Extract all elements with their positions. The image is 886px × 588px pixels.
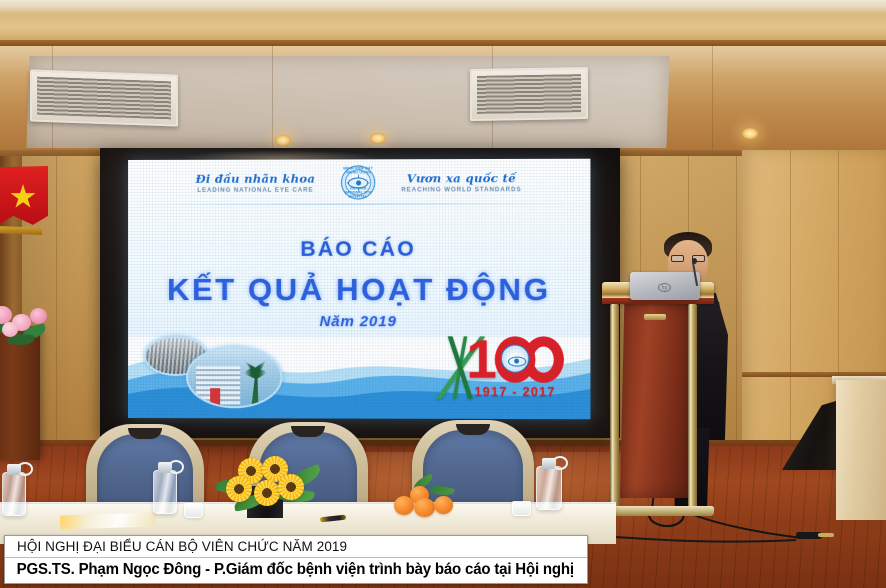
wall-panel-seam — [56, 156, 57, 442]
palm-tree — [242, 360, 268, 406]
presentation-slide: Đi đầu nhãn khoa LEADING NATIONAL EYE CA… — [128, 159, 590, 420]
tagline-left-sub: LEADING NATIONAL EYE CARE — [180, 187, 331, 194]
bottle-loop — [168, 460, 184, 474]
hospital-building-photo — [186, 346, 282, 408]
tagline-right: Vươn xa quốc tế REACHING WORLD STANDARDS — [385, 171, 537, 194]
anniversary-digit-zero-b — [523, 336, 564, 382]
podium-chrome-leg-right — [688, 304, 697, 510]
podium-body — [620, 304, 692, 498]
flower — [30, 308, 47, 324]
sunflower — [226, 476, 252, 502]
eye-hospital-logo-icon: BỆNH VIỆN MẮT TRUNG ƯƠNG VIETNAM NATIONA… — [341, 165, 375, 199]
anniversary-eye-icon — [501, 344, 529, 372]
podium-chrome-leg-left — [610, 304, 619, 510]
orange — [434, 496, 453, 514]
hospital-entrance — [210, 388, 220, 406]
tagline-right-script: Vươn xa quốc tế — [385, 171, 537, 185]
bottle-body — [153, 470, 177, 514]
side-lectern — [836, 380, 886, 520]
presenter-glasses-icon — [671, 255, 705, 262]
water-bottle — [536, 456, 562, 516]
slide-header: Đi đầu nhãn khoa LEADING NATIONAL EYE CA… — [128, 165, 590, 200]
air-conditioner-vent — [470, 67, 588, 121]
air-conditioner-vent — [30, 69, 178, 126]
anniversary-logo: 1 1917 - 2017 — [442, 328, 574, 409]
podium-nameplate — [644, 314, 666, 320]
drinking-glass — [512, 501, 531, 516]
anniversary-years: 1917 - 2017 — [454, 385, 576, 399]
vent-grill — [477, 74, 581, 114]
anniversary-digit-one: 1 — [466, 332, 496, 386]
bottle-body — [2, 472, 26, 516]
presenter-laptop[interactable]: hp — [626, 272, 702, 306]
ceiling-seam — [272, 46, 273, 150]
pink-flower-arrangement — [0, 300, 58, 346]
drinking-glass — [184, 503, 203, 518]
conference-chair — [86, 424, 204, 514]
sunflower-bouquet — [216, 456, 324, 516]
ceiling-downlight — [370, 133, 386, 144]
sunflower — [278, 474, 304, 500]
orange — [414, 498, 435, 517]
logo-arc-top-text: BỆNH VIỆN MẮT TRUNG ƯƠNG — [341, 166, 375, 174]
photo-caption-bar: HỘI NGHỊ ĐẠI BIỂU CÁN BỘ VIÊN CHỨC NĂM 2… — [4, 535, 588, 584]
caption-description: PGS.TS. Phạm Ngọc Đông - P.Giám đốc bệnh… — [5, 558, 570, 583]
logo-arc-bottom-text: VIETNAM NATIONAL EYE HOSPITAL — [341, 186, 375, 198]
sunflower — [254, 480, 280, 506]
side-cabinet — [0, 330, 40, 460]
caption-event-title: HỘI NGHỊ ĐẠI BIỂU CÁN BỘ VIÊN CHỨC NĂM 2… — [5, 536, 587, 558]
tagline-right-sub: REACHING WORLD STANDARDS — [385, 186, 537, 193]
tagline-left-script: Đi đầu nhãn khoa — [180, 171, 331, 185]
tagline-left: Đi đầu nhãn khoa LEADING NATIONAL EYE CA… — [180, 171, 331, 193]
ceiling-seam — [712, 46, 713, 150]
bottle-loop — [17, 462, 33, 476]
bottle-loop — [552, 456, 568, 470]
speaking-podium — [602, 282, 714, 530]
ceiling-downlight — [275, 135, 291, 146]
slide-title-main: KẾT QUẢ HOẠT ĐỘNG — [128, 272, 590, 308]
hp-logo-icon: hp — [658, 283, 671, 292]
orange-fruit-plate — [390, 484, 464, 518]
water-bottle — [2, 462, 26, 518]
orange — [394, 496, 414, 515]
photograph-canvas: Đi đầu nhãn khoa LEADING NATIONAL EYE CA… — [0, 0, 886, 588]
microphone-head-icon — [692, 258, 697, 264]
ceiling-downlight — [742, 128, 758, 139]
logo-pupil — [356, 180, 361, 185]
podium-base — [602, 506, 715, 516]
vent-grill — [37, 77, 171, 120]
slide-title-bao-cao: BÁO CÁO — [128, 237, 590, 262]
flower — [2, 322, 18, 337]
water-bottle — [153, 460, 177, 518]
bottle-body — [536, 466, 562, 510]
